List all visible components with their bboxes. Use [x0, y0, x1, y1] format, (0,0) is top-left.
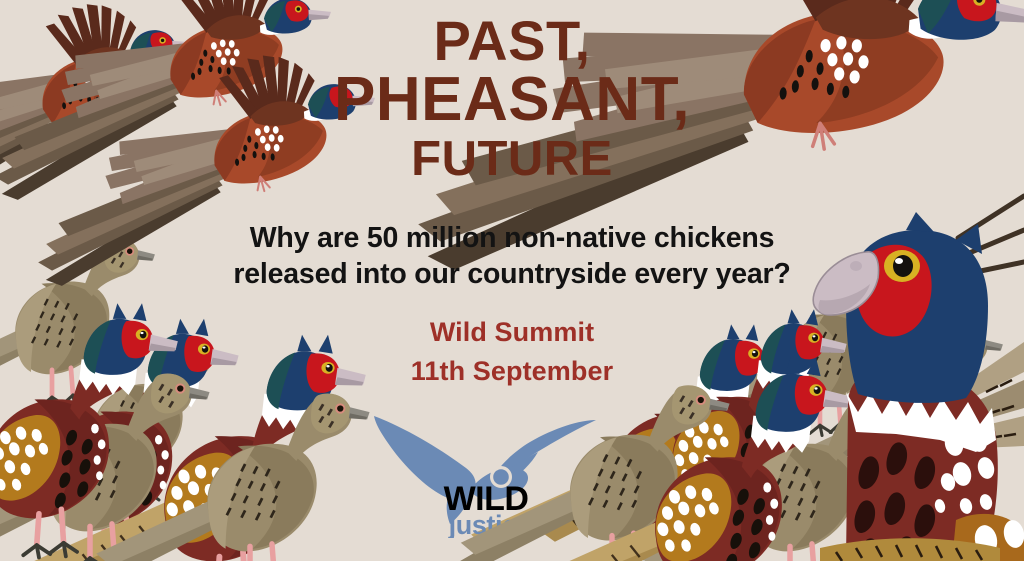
foreground-birds-svg — [0, 0, 1024, 561]
artwork-foreground-layer — [0, 0, 1024, 561]
poster-canvas: PAST, PHEASANT, FUTURE Why are 50 millio… — [0, 0, 1024, 561]
